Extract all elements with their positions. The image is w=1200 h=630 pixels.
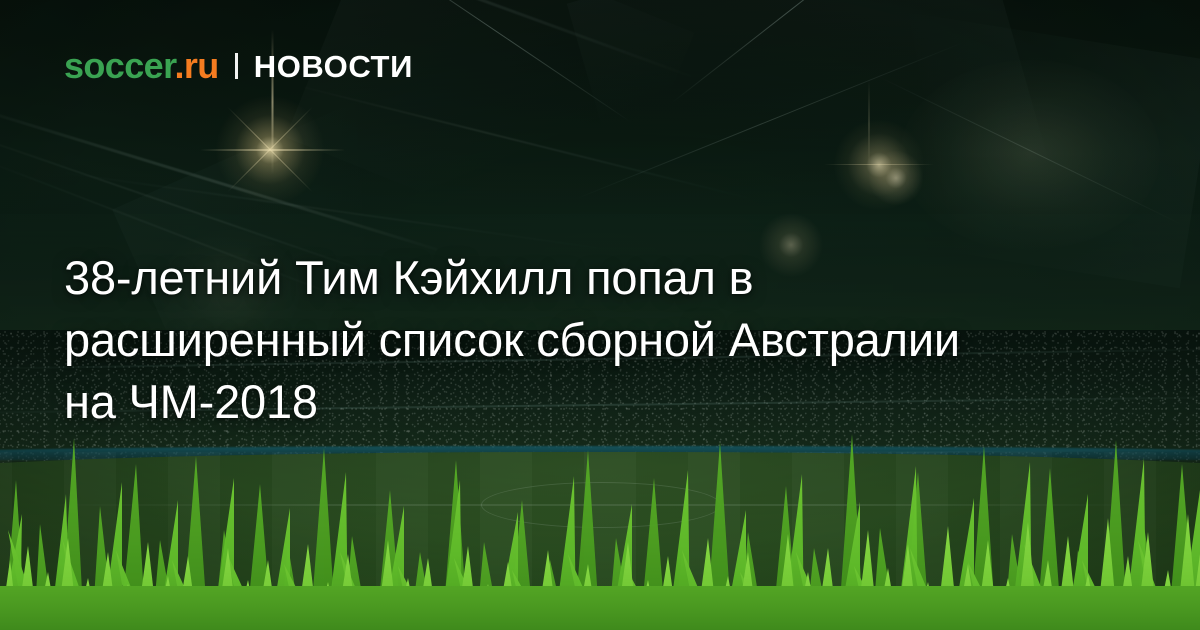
site-logo[interactable]: soccer.ru	[64, 48, 219, 84]
grass-base-mat	[0, 586, 1200, 630]
article-headline: 38-летний Тим Кэйхилл попал в расширенны…	[64, 247, 1024, 433]
header-divider	[235, 53, 238, 79]
section-label: НОВОСТИ	[254, 51, 413, 82]
logo-tld: .ru	[175, 45, 219, 86]
social-share-card: soccer.ru НОВОСТИ 38-летний Тим Кэйхилл …	[0, 0, 1200, 630]
foreground-grass	[0, 420, 1200, 630]
site-header: soccer.ru НОВОСТИ	[64, 48, 413, 84]
logo-word: soccer	[64, 45, 175, 86]
